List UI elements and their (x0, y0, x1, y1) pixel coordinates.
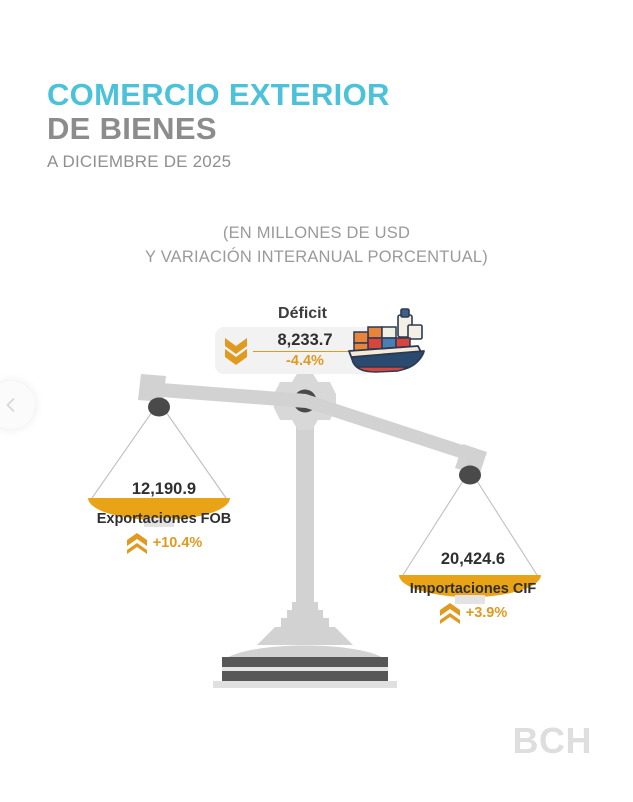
deficit-figures: 8,233.7 -4.4% (253, 331, 357, 371)
chevron-double-up-icon (439, 602, 461, 624)
infographic-canvas: COMERCIO EXTERIOR DE BIENES A DICIEMBRE … (0, 0, 633, 802)
report-date: A DICIEMBRE DE 2025 (47, 151, 567, 173)
units-note: (EN MILLONES DE USD Y VARIACIÓN INTERANU… (0, 221, 633, 269)
bch-watermark: BCH (513, 720, 593, 762)
imports-change: +3.9% (466, 604, 508, 622)
exports-change-row: +10.4% (68, 532, 260, 554)
header-block: COMERCIO EXTERIOR DE BIENES A DICIEMBRE … (47, 78, 567, 173)
exports-block: 12,190.9 Exportaciones FOB +10.4% (68, 479, 260, 554)
deficit-value: 8,233.7 (277, 331, 332, 350)
imports-change-row: +3.9% (377, 602, 569, 624)
units-note-line2: Y VARIACIÓN INTERANUAL PORCENTUAL) (0, 245, 633, 269)
deficit-block: Déficit 8,233.7 -4.4% (215, 305, 420, 374)
imports-label: Importaciones CIF (377, 579, 569, 599)
deficit-change: -4.4% (286, 353, 324, 370)
chevron-double-up-icon (126, 532, 148, 554)
page-title-secondary: DE BIENES (47, 112, 567, 146)
cargo-ship-icon (346, 307, 432, 375)
imports-block: 20,424.6 Importaciones CIF +3.9% (377, 549, 569, 624)
deficit-card: 8,233.7 -4.4% (215, 327, 375, 374)
exports-change: +10.4% (153, 534, 203, 552)
chevron-double-down-icon (223, 336, 249, 366)
right-pan-hanger-knob (459, 466, 481, 485)
exports-label: Exportaciones FOB (68, 509, 260, 529)
page-title-primary: COMERCIO EXTERIOR (47, 78, 567, 112)
deficit-divider (253, 351, 357, 353)
units-note-line1: (EN MILLONES DE USD (0, 221, 633, 245)
left-pan-hanger-knob (148, 398, 170, 417)
imports-value: 20,424.6 (377, 549, 569, 569)
exports-value: 12,190.9 (68, 479, 260, 499)
scale-base (213, 657, 397, 688)
